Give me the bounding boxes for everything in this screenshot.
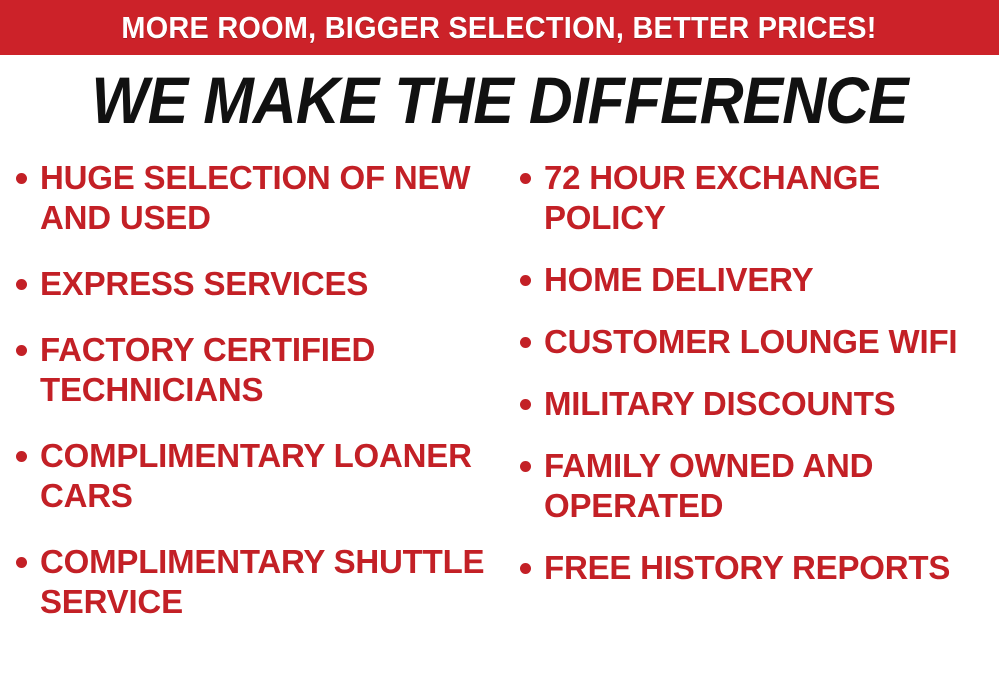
bullet-dot-icon [16,557,27,568]
list-item-label: 72 HOUR EXCHANGE POLICY [544,158,999,238]
list-item: 72 HOUR EXCHANGE POLICY [520,158,999,238]
list-item-label: COMPLIMENTARY SHUTTLE SERVICE [40,542,506,622]
list-item-label: FREE HISTORY REPORTS [544,548,999,588]
top-promo-banner-text: MORE ROOM, BIGGER SELECTION, BETTER PRIC… [122,12,877,43]
list-item: MILITARY DISCOUNTS [520,384,999,424]
bullet-dot-icon [520,173,531,184]
list-item-label: COMPLIMENTARY LOANER CARS [40,436,506,516]
bullet-dot-icon [520,399,531,410]
bullet-dot-icon [520,275,531,286]
bullet-dot-icon [520,563,531,574]
bullet-dot-icon [16,279,27,290]
list-item-label: EXPRESS SERVICES [40,264,506,304]
bullet-dot-icon [16,345,27,356]
bullet-dot-icon [520,461,531,472]
list-item-label: FAMILY OWNED AND OPERATED [544,446,999,526]
list-item: COMPLIMENTARY SHUTTLE SERVICE [16,542,506,622]
list-item: FACTORY CERTIFIED TECHNICIANS [16,330,506,410]
list-item: CUSTOMER LOUNGE WIFI [520,322,999,362]
bullet-dot-icon [16,451,27,462]
bullet-dot-icon [520,337,531,348]
feature-list-right: 72 HOUR EXCHANGE POLICY HOME DELIVERY CU… [506,158,999,610]
feature-list-left: HUGE SELECTION OF NEW AND USED EXPRESS S… [0,158,506,648]
page-title: WE MAKE THE DIFFERENCE [40,66,959,134]
list-item: HUGE SELECTION OF NEW AND USED [16,158,506,238]
list-item-label: MILITARY DISCOUNTS [544,384,999,424]
list-item: HOME DELIVERY [520,260,999,300]
bullet-dot-icon [16,173,27,184]
list-item-label: HUGE SELECTION OF NEW AND USED [40,158,506,238]
top-promo-banner: MORE ROOM, BIGGER SELECTION, BETTER PRIC… [0,0,999,55]
list-item-label: FACTORY CERTIFIED TECHNICIANS [40,330,506,410]
list-item-label: HOME DELIVERY [544,260,999,300]
list-item: FREE HISTORY REPORTS [520,548,999,588]
list-item-label: CUSTOMER LOUNGE WIFI [544,322,999,362]
list-item: COMPLIMENTARY LOANER CARS [16,436,506,516]
feature-lists: HUGE SELECTION OF NEW AND USED EXPRESS S… [0,158,999,692]
advertisement-banner: MORE ROOM, BIGGER SELECTION, BETTER PRIC… [0,0,999,692]
list-item: EXPRESS SERVICES [16,264,506,304]
list-item: FAMILY OWNED AND OPERATED [520,446,999,526]
